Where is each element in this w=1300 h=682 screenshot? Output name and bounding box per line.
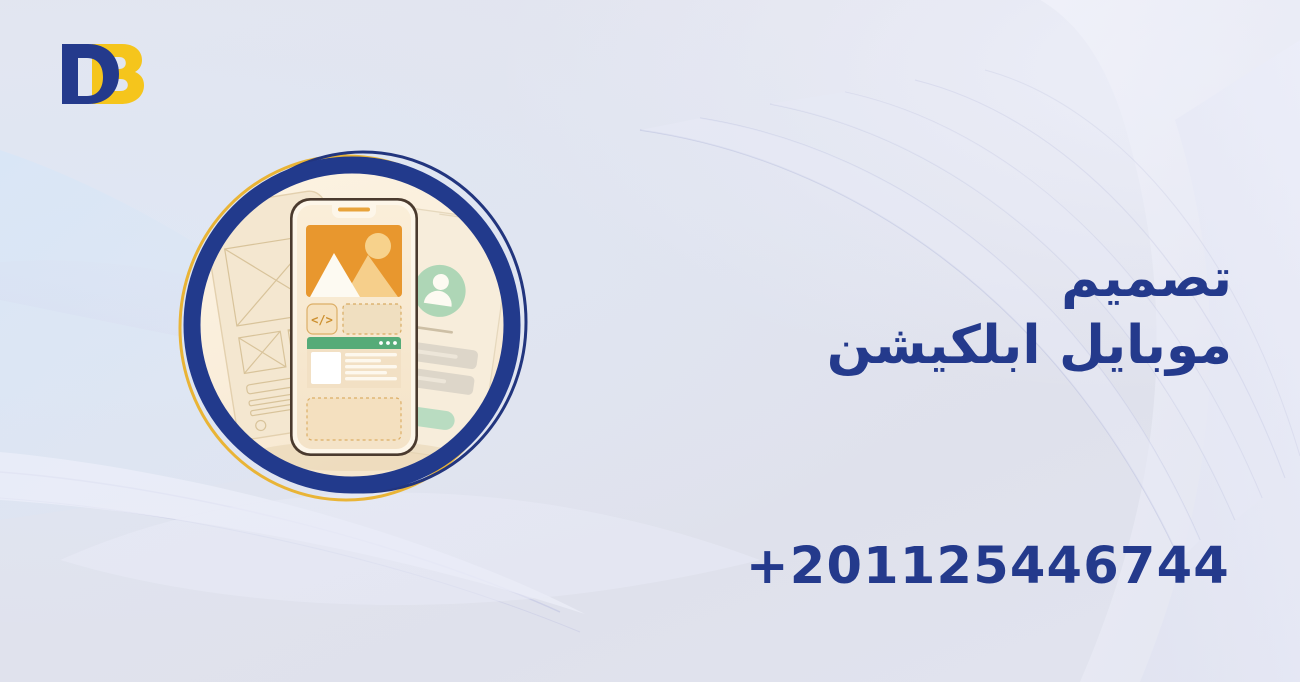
headline-line-2: موبايل ابلكيشن [672, 313, 1232, 380]
phone-mockup: </> [290, 198, 418, 456]
promotional-banner: </> [0, 0, 1300, 682]
svg-text:</>: </> [311, 313, 333, 327]
phone-speaker [338, 208, 370, 212]
browser-window [307, 337, 401, 388]
image-placeholder [306, 225, 402, 297]
code-icon-tile: </> [307, 304, 337, 334]
headline: تصميم موبايل ابلكيشن [672, 246, 1232, 380]
headline-line-1: تصميم [672, 246, 1232, 313]
contact-phone-number[interactable]: +201125446744 [746, 541, 1230, 592]
content-thumbnail [311, 352, 341, 384]
sun-shape [365, 233, 391, 259]
bottom-dashed-block [307, 398, 401, 440]
browser-dots [379, 341, 397, 345]
dashed-placeholder [343, 304, 401, 334]
db-logo-icon [48, 38, 158, 110]
brand-logo[interactable] [48, 38, 158, 110]
mobile-app-design-illustration: </> [150, 120, 590, 530]
logo-letter-d [62, 44, 119, 104]
illustration-svg: </> [150, 120, 590, 530]
